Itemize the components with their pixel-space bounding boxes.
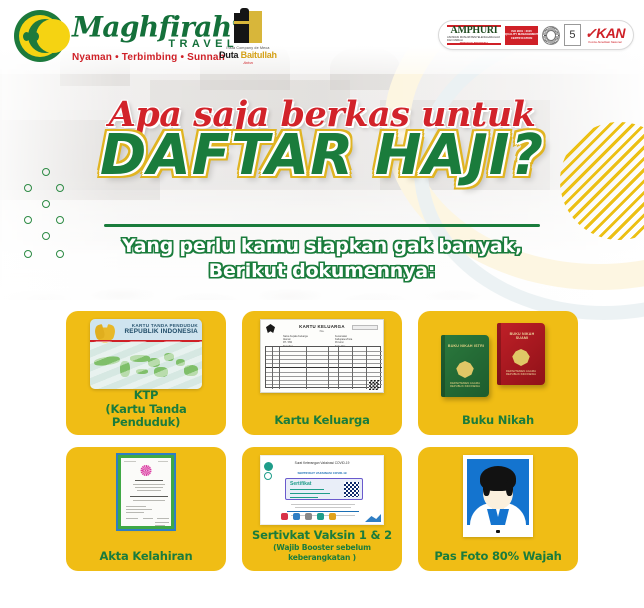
maghfirah-logo[interactable]: Maghfirah® TRAVEL Nyaman • Terbimbing • … bbox=[14, 9, 240, 63]
vax-title: Surat Keterangan Vaksinasi COVID-19 bbox=[261, 461, 383, 465]
book-green-footer: DEPARTEMEN AGAMA REPUBLIK INDONESIA bbox=[445, 382, 485, 389]
amphuri-name: AMPHURI bbox=[451, 26, 498, 36]
card-pas-foto-artwork bbox=[463, 455, 533, 537]
birth-certificate-icon bbox=[118, 455, 174, 529]
card-buku-nikah-caption: Buku Nikah bbox=[462, 414, 534, 429]
card-vaksin-artwork: Surat Keterangan Vaksinasi COVID-19 SERT… bbox=[260, 455, 384, 525]
card-ktp-caption-sub: (Kartu Tanda Penduduk) bbox=[72, 403, 220, 429]
vax-subtitle: SERTIFIKAT VAKSINASI COVID-19 bbox=[261, 471, 383, 475]
kk-qr-code-icon bbox=[369, 380, 379, 390]
card-ktp-caption: KTP (Kartu Tanda Penduduk) bbox=[72, 389, 220, 431]
marriage-books-icon: BUKU NIKAH SUAMI DEPARTEMEN AGAMA REPUBL… bbox=[435, 319, 561, 399]
card-akta-kelahiran[interactable]: Akta Kelahiran bbox=[66, 447, 226, 571]
vaccine-certificate-icon: Surat Keterangan Vaksinasi COVID-19 SERT… bbox=[260, 455, 384, 525]
card-kk-artwork: KARTU KELUARGA No. Nama Kepala KeluargaA… bbox=[260, 319, 384, 393]
book-red-footer: DEPARTEMEN AGAMA REPUBLIK INDONESIA bbox=[501, 370, 541, 377]
card-pas-foto[interactable]: Pas Foto 80% Wajah bbox=[418, 447, 578, 571]
header-bar: Maghfirah® TRAVEL Nyaman • Terbimbing • … bbox=[0, 0, 644, 82]
ktp-id-card-icon: KARTU TANDA PENDUDUK REPUBLIK INDONESIA bbox=[90, 319, 202, 389]
amphuri-badge: AMPHURI ASOSIASI MUSLIM PENYELENGGARA HA… bbox=[447, 25, 501, 45]
card-akta-artwork bbox=[118, 455, 174, 529]
duta-baitullah-logo[interactable]: Insta Company de Meca Duta Baitullah Ari… bbox=[215, 9, 281, 65]
passport-photo-icon bbox=[463, 455, 533, 537]
marriage-book-husband-icon: BUKU NIKAH SUAMI DEPARTEMEN AGAMA REPUBL… bbox=[497, 323, 545, 385]
vax-partner-logos bbox=[281, 513, 336, 520]
duta-alt-text: Arina bbox=[215, 60, 281, 65]
card-buku-nikah-artwork: BUKU NIKAH SUAMI DEPARTEMEN AGAMA REPUBL… bbox=[435, 319, 561, 399]
kan-check-icon: ✓ bbox=[585, 25, 596, 41]
kan-subtitle: Komite Akreditasi Nasional bbox=[588, 40, 621, 44]
kan-badge: ✓KAN Komite Akreditasi Nasional bbox=[585, 26, 625, 44]
card-vaksin-caption: Sertivkat Vaksin 1 & 2 (Wajib Booster se… bbox=[248, 529, 396, 565]
green-divider-rule bbox=[104, 224, 540, 227]
card-kartu-keluarga[interactable]: KARTU KELUARGA No. Nama Kepala KeluargaA… bbox=[242, 311, 402, 435]
certificate-seal-icon bbox=[141, 465, 152, 476]
family-card-document-icon: KARTU KELUARGA No. Nama Kepala KeluargaA… bbox=[260, 319, 384, 393]
kaaba-icon bbox=[230, 11, 266, 45]
title-block: Apa saja berkas untuk DAFTAR HAJI? bbox=[0, 96, 644, 184]
accreditation-pill: AMPHURI ASOSIASI MUSLIM PENYELENGGARA HA… bbox=[438, 20, 634, 50]
card-kk-caption: Kartu Keluarga bbox=[274, 414, 369, 429]
duta-name: Duta Baitullah bbox=[215, 50, 281, 60]
kan-name: ✓KAN bbox=[585, 26, 625, 40]
card-ktp[interactable]: KARTU TANDA PENDUDUK REPUBLIK INDONESIA bbox=[66, 311, 226, 435]
document-card-grid: KARTU TANDA PENDUDUK REPUBLIK INDONESIA bbox=[66, 311, 578, 571]
crescent-logo-icon bbox=[14, 10, 66, 62]
card-buku-nikah[interactable]: BUKU NIKAH SUAMI DEPARTEMEN AGAMA REPUBL… bbox=[418, 311, 578, 435]
marriage-book-wife-icon: BUKU NIKAH ISTRI DEPARTEMEN AGAMA REPUBL… bbox=[441, 335, 489, 397]
card-akta-caption: Akta Kelahiran bbox=[100, 550, 193, 565]
ktp-header-line2: REPUBLIK INDONESIA bbox=[124, 328, 198, 335]
card-pas-foto-caption: Pas Foto 80% Wajah bbox=[434, 550, 561, 565]
book-red-title: BUKU NIKAH SUAMI bbox=[503, 332, 541, 340]
book-green-title: BUKU NIKAH ISTRI bbox=[447, 344, 485, 348]
card-vaksin-caption-sub: (Wajib Booster sebelum keberangkatan ) bbox=[248, 543, 396, 563]
vax-corner-graphic bbox=[365, 512, 381, 522]
vax-panel: Sertifikat bbox=[285, 478, 363, 500]
subtitle-line-2: Berikut dokumennya: bbox=[0, 259, 644, 284]
iso-badge: ISO 9001 : 2015 QUALITY MANAGEMENT CERTI… bbox=[505, 26, 538, 45]
card-ktp-artwork: KARTU TANDA PENDUDUK REPUBLIK INDONESIA bbox=[90, 319, 202, 389]
vax-panel-name: Sertifikat bbox=[290, 481, 311, 487]
subtitle-block: Yang perlu kamu siapkan gak banyak, Beri… bbox=[0, 234, 644, 284]
sni-badge: 5 bbox=[564, 24, 581, 46]
title-line-2: DAFTAR HAJI? bbox=[0, 128, 644, 184]
vax-qr-code-icon bbox=[344, 482, 359, 497]
card-sertivkat-vaksin[interactable]: Surat Keterangan Vaksinasi COVID-19 SERT… bbox=[242, 447, 402, 571]
certification-seal-icon bbox=[542, 26, 560, 45]
poster-root: Maghfirah® TRAVEL Nyaman • Terbimbing • … bbox=[0, 0, 644, 608]
subtitle-line-1: Yang perlu kamu siapkan gak banyak, bbox=[0, 234, 644, 259]
amphuri-line3: REPUBLIK INDONESIA bbox=[460, 42, 488, 45]
